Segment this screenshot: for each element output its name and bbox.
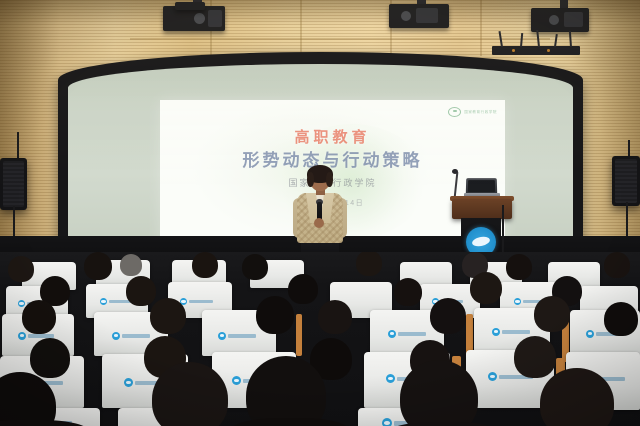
- speaker-grill-icon: [3, 161, 24, 207]
- projector-lens-icon: [194, 13, 205, 24]
- seat-logo-icon: [18, 300, 25, 307]
- ceiling-projector-right: [531, 8, 589, 32]
- projector-body-panel: [416, 8, 438, 23]
- seat-logo: [492, 328, 530, 336]
- seat-logo-text: [228, 334, 256, 338]
- audience-head: [506, 254, 532, 280]
- audience-seating-area: [0, 252, 640, 426]
- microphone-head-icon: [452, 169, 458, 174]
- audience-shoulders: [230, 418, 350, 426]
- wireless-antenna-rack: [492, 46, 580, 55]
- audience-head: [152, 362, 228, 426]
- projector-body-panel: [208, 10, 222, 27]
- projector-body-panel: [564, 12, 583, 27]
- audience-head: [30, 338, 70, 378]
- audience-head: [84, 252, 112, 280]
- ceiling-projector-center: [389, 4, 449, 28]
- seat-logo-icon: [514, 298, 521, 305]
- presenter-hair-side: [307, 172, 314, 187]
- audience-head: [356, 252, 382, 276]
- antenna-status-led: [547, 49, 550, 52]
- audience-head: [534, 296, 570, 332]
- audience-head: [604, 252, 630, 278]
- projector-lens-icon: [401, 11, 411, 21]
- lecture-hall-photo: 国家教育行政学院 高职教育 形势动态与行动策略 国家教育行政学院 2017年7月…: [0, 0, 640, 426]
- audience-head: [8, 256, 34, 282]
- seat-logo: [388, 330, 426, 338]
- seat-logo: [112, 332, 150, 340]
- audience-head: [242, 254, 268, 280]
- seat-logo-text: [122, 334, 150, 338]
- laptop-screen: [468, 180, 495, 192]
- wall-speaker-right: [612, 156, 640, 206]
- audience-head: [192, 252, 218, 278]
- seat-logo-icon: [124, 378, 133, 387]
- projector-bracket-left: [175, 2, 205, 10]
- seat-logo-icon: [100, 298, 107, 305]
- laptop-icon: [466, 178, 497, 194]
- audience-head: [514, 336, 556, 378]
- seat-logo-text: [398, 332, 426, 336]
- wall-speaker-left: [0, 158, 27, 210]
- seat-logo-text: [189, 300, 213, 303]
- audience-head: [318, 300, 352, 334]
- speaker-grill-icon: [615, 159, 637, 203]
- audience-head: [604, 302, 638, 336]
- chair-frame: [296, 314, 302, 356]
- audience-head: [470, 272, 502, 304]
- seat-logo-icon: [218, 332, 226, 340]
- audience-head: [126, 276, 156, 306]
- seat-logo-icon: [388, 330, 396, 338]
- seat-logo-icon: [382, 418, 392, 426]
- seat-logo: [180, 298, 213, 305]
- slide-title-line1: 高职教育: [160, 126, 505, 147]
- seat-logo-text: [502, 330, 530, 334]
- audience-head: [400, 360, 478, 426]
- audience-head: [430, 298, 466, 334]
- audience-head: [120, 254, 142, 276]
- audience-head: [22, 300, 56, 334]
- slide-institution-logo: 国家教育行政学院: [448, 107, 497, 117]
- slide-logo-text: 国家教育行政学院: [464, 110, 497, 115]
- audience-head: [150, 298, 186, 334]
- wall-panel-seam: [130, 38, 550, 40]
- seat-logo-icon: [492, 328, 500, 336]
- seat-logo-icon: [586, 330, 594, 338]
- seat-logo-icon: [232, 376, 241, 385]
- antenna-status-led: [512, 49, 515, 52]
- audience-head: [246, 356, 326, 426]
- seat-logo: [100, 298, 131, 305]
- seat-logo-icon: [386, 374, 395, 383]
- seat-logo-icon: [488, 372, 497, 381]
- presenter-hair-side: [326, 172, 333, 187]
- audience-head: [288, 274, 318, 304]
- presenter-speaker: [292, 168, 348, 260]
- projector-lens-icon: [549, 15, 559, 25]
- seat-logo-icon: [18, 332, 26, 340]
- presenter-hand: [314, 218, 324, 228]
- audience-head: [256, 296, 294, 334]
- audience-head: [394, 278, 422, 306]
- seat-logo: [218, 332, 256, 340]
- oval-leaf-logo-icon: [448, 107, 461, 117]
- seat-logo-icon: [112, 332, 120, 340]
